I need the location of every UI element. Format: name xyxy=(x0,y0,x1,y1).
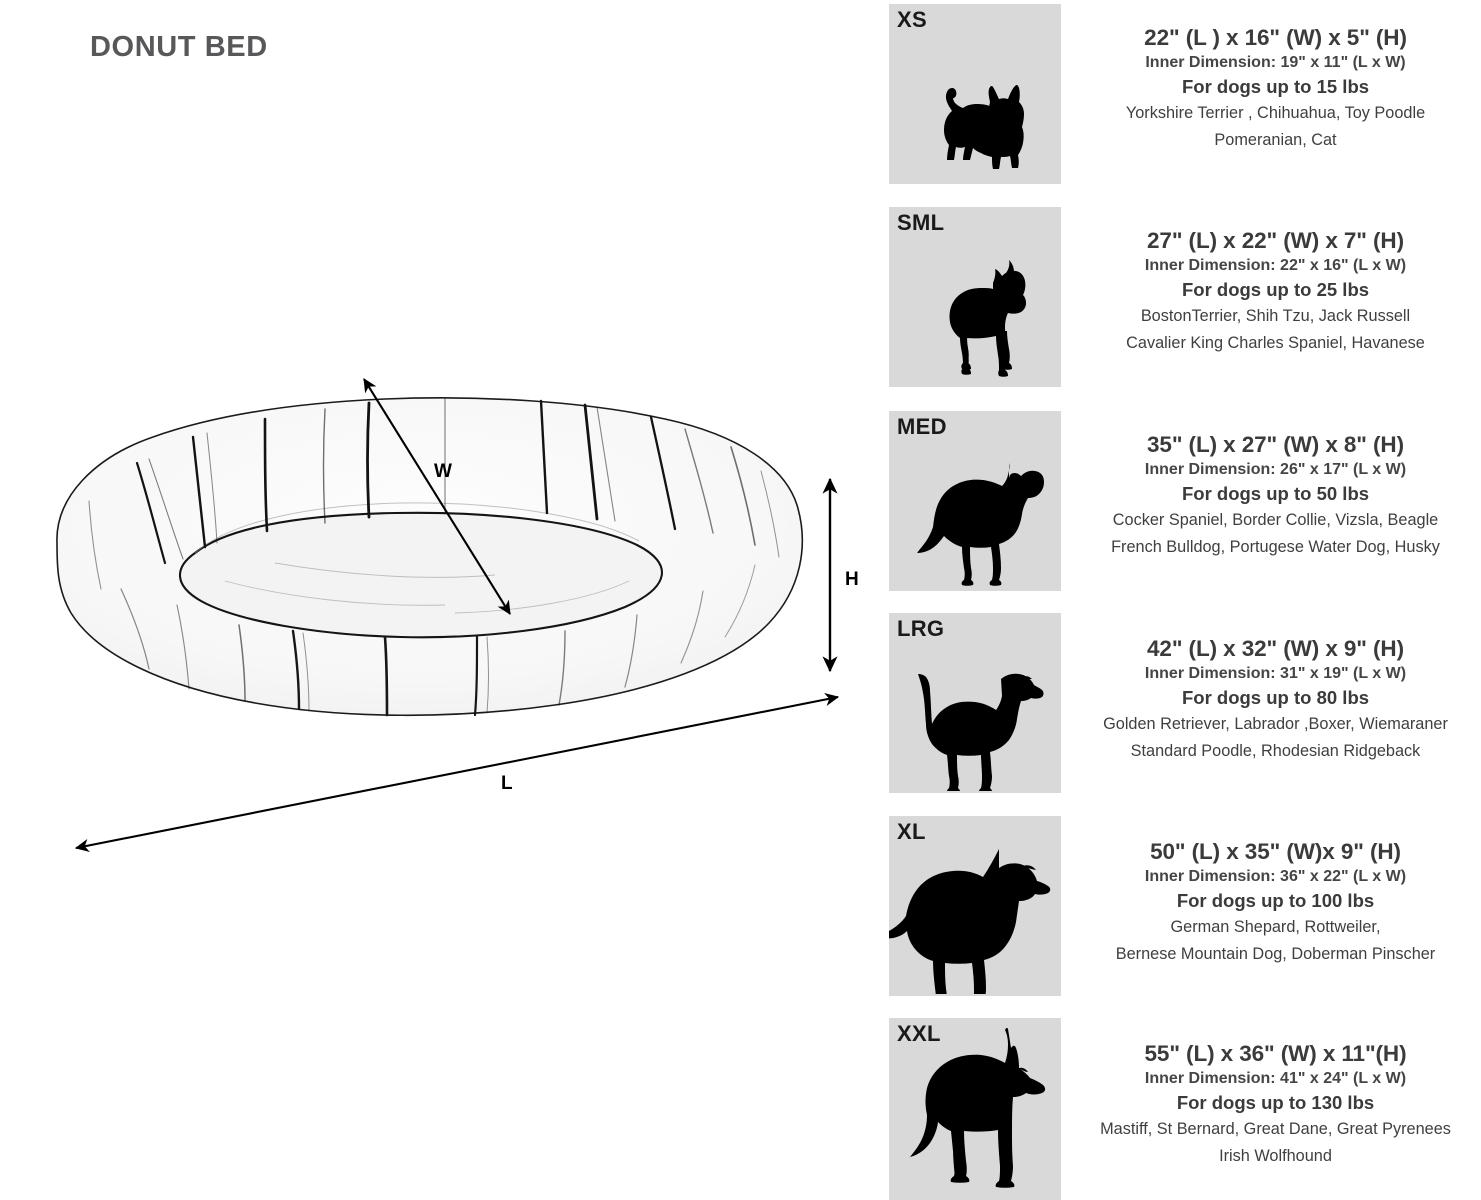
size-info: 27" (L) x 22" (W) x 7" (H) Inner Dimensi… xyxy=(1070,227,1481,357)
breed-list-line2: Bernese Mountain Dog, Doberman Pinscher xyxy=(1070,942,1481,967)
weight-limit: For dogs up to 130 lbs xyxy=(1070,1091,1481,1115)
dog-swatch: XXL xyxy=(889,1018,1061,1200)
breed-list-line1: Mastiff, St Bernard, Great Dane, Great P… xyxy=(1070,1117,1481,1142)
outer-dimensions: 35" (L) x 27" (W) x 8" (H) xyxy=(1070,431,1481,458)
size-info: 22" (L ) x 16" (W) x 5" (H) Inner Dimens… xyxy=(1070,24,1481,154)
inner-dimensions: Inner Dimension: 36" x 22" (L x W) xyxy=(1070,866,1481,888)
inner-dimensions: Inner Dimension: 26" x 17" (L x W) xyxy=(1070,459,1481,481)
dog-silhouette-great-dane xyxy=(889,1020,1061,1198)
outer-dimensions: 55" (L) x 36" (W) x 11"(H) xyxy=(1070,1040,1481,1067)
size-chart-list: XS 22" (L ) x 16" (W) x 5" (H) Inner Dim… xyxy=(880,0,1481,1200)
size-info: 35" (L) x 27" (W) x 8" (H) Inner Dimensi… xyxy=(1070,431,1481,561)
dog-silhouette-golden-retriever xyxy=(889,816,1061,994)
breed-list-line1: Golden Retriever, Labrador ,Boxer, Wiema… xyxy=(1070,712,1481,737)
breed-list-line2: Pomeranian, Cat xyxy=(1070,128,1481,153)
size-row: XS 22" (L ) x 16" (W) x 5" (H) Inner Dim… xyxy=(880,4,1481,184)
weight-limit: For dogs up to 25 lbs xyxy=(1070,278,1481,302)
size-row: XL 50" (L) x 35" (W)x 9" (H) Inner Dimen… xyxy=(880,816,1481,996)
inner-dimensions: Inner Dimension: 31" x 19" (L x W) xyxy=(1070,663,1481,685)
height-label: H xyxy=(845,569,859,591)
breed-list-line1: Yorkshire Terrier , Chihuahua, Toy Poodl… xyxy=(1070,101,1481,126)
page-title: DONUT BED xyxy=(90,31,268,64)
dog-silhouette-yorkshire-terrier xyxy=(889,4,1061,182)
size-info: 42" (L) x 32" (W) x 9" (H) Inner Dimensi… xyxy=(1070,635,1481,765)
breed-list-line2: Standard Poodle, Rhodesian Ridgeback xyxy=(1070,739,1481,764)
breed-list-line1: German Shepard, Rottweiler, xyxy=(1070,915,1481,940)
dog-silhouette-labrador xyxy=(889,613,1061,791)
size-info: 50" (L) x 35" (W)x 9" (H) Inner Dimensio… xyxy=(1070,838,1481,968)
inner-dimensions: Inner Dimension: 19" x 11" (L x W) xyxy=(1070,52,1481,74)
outer-dimensions: 50" (L) x 35" (W)x 9" (H) xyxy=(1070,838,1481,865)
breed-list-line2: Cavalier King Charles Spaniel, Havanese xyxy=(1070,331,1481,356)
size-row: LRG 42" (L) x 32" (W) x 9" (H) Inner Dim… xyxy=(880,613,1481,793)
size-row: SML 27" (L) x 22" (W) x 7" (H) Inner Dim… xyxy=(880,207,1481,387)
dog-swatch: XL xyxy=(889,816,1061,996)
product-diagram-panel: DONUT BED xyxy=(0,0,880,1200)
dog-silhouette-border-collie xyxy=(889,411,1061,589)
inner-dimensions: Inner Dimension: 22" x 16" (L x W) xyxy=(1070,255,1481,277)
dog-swatch: XS xyxy=(889,4,1061,184)
size-info: 55" (L) x 36" (W) x 11"(H) Inner Dimensi… xyxy=(1070,1040,1481,1170)
dog-swatch: SML xyxy=(889,207,1061,387)
width-label: W xyxy=(434,461,452,483)
dog-swatch: LRG xyxy=(889,613,1061,793)
breed-list-line1: BostonTerrier, Shih Tzu, Jack Russell xyxy=(1070,304,1481,329)
donut-bed-illustration xyxy=(25,375,825,725)
breed-list-line1: Cocker Spaniel, Border Collie, Vizsla, B… xyxy=(1070,508,1481,533)
breed-list-line2: Irish Wolfhound xyxy=(1070,1144,1481,1169)
size-row: XXL 55" (L) x 36" (W) x 11"(H) Inner Dim… xyxy=(880,1018,1481,1200)
dog-swatch: MED xyxy=(889,411,1061,591)
outer-dimensions: 22" (L ) x 16" (W) x 5" (H) xyxy=(1070,24,1481,51)
size-row: MED 35" (L) x 27" (W) x 8" (H) Inner Dim… xyxy=(880,411,1481,591)
weight-limit: For dogs up to 100 lbs xyxy=(1070,889,1481,913)
dog-silhouette-boston-terrier xyxy=(889,207,1061,385)
weight-limit: For dogs up to 15 lbs xyxy=(1070,75,1481,99)
outer-dimensions: 42" (L) x 32" (W) x 9" (H) xyxy=(1070,635,1481,662)
outer-dimensions: 27" (L) x 22" (W) x 7" (H) xyxy=(1070,227,1481,254)
breed-list-line2: French Bulldog, Portugese Water Dog, Hus… xyxy=(1070,535,1481,560)
weight-limit: For dogs up to 50 lbs xyxy=(1070,482,1481,506)
length-label: L xyxy=(501,773,513,795)
weight-limit: For dogs up to 80 lbs xyxy=(1070,686,1481,710)
inner-dimensions: Inner Dimension: 41" x 24" (L x W) xyxy=(1070,1068,1481,1090)
